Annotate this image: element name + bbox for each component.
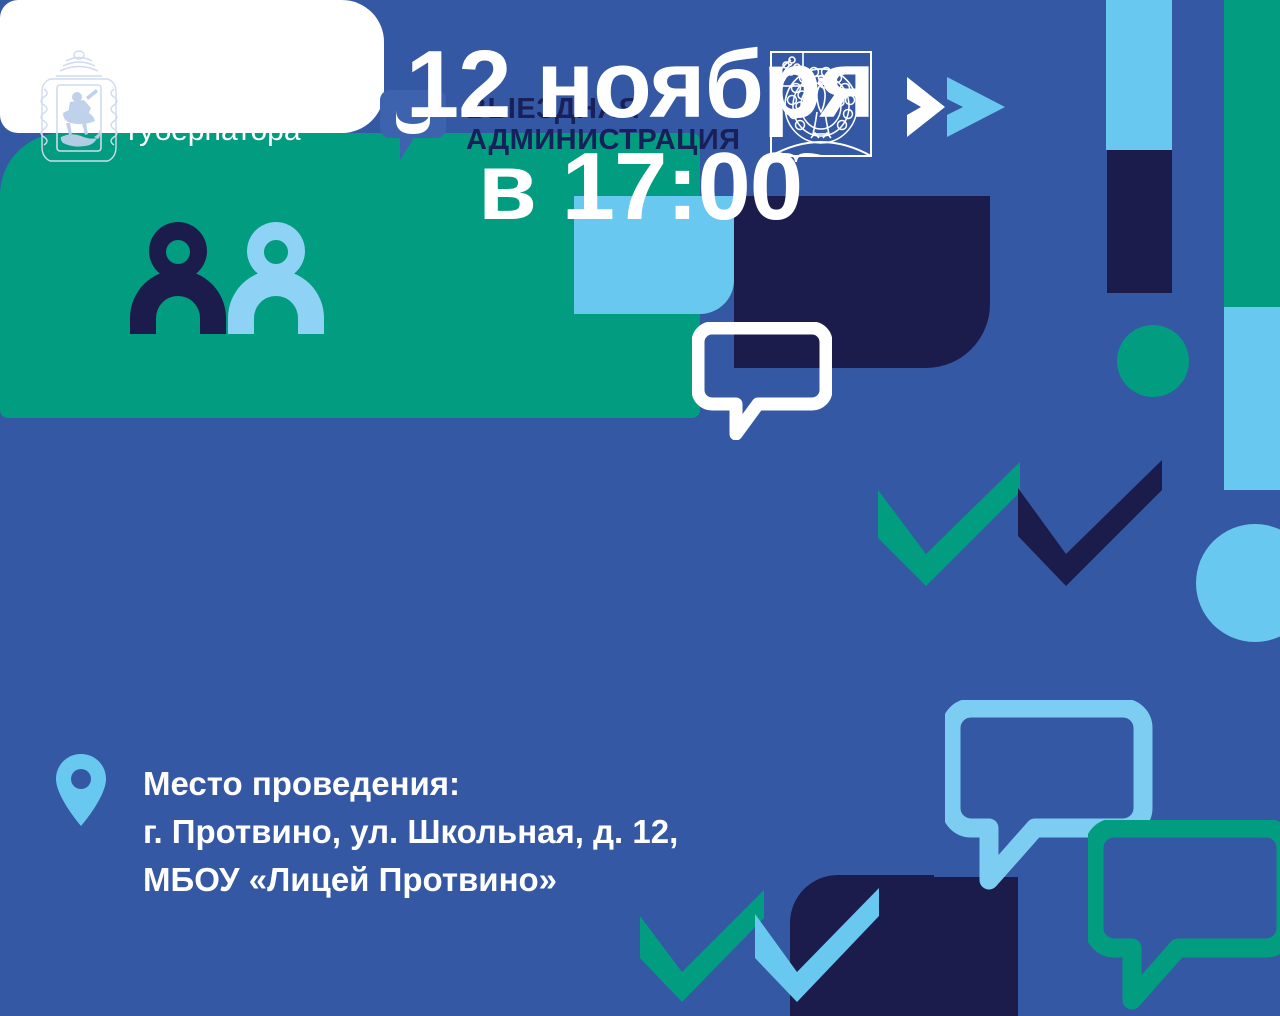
speech-bubble-white-outline-icon <box>692 322 832 440</box>
decor-circle-green <box>1117 325 1189 397</box>
venue-text-block: Место проведения: г. Протвино, ул. Школь… <box>143 760 923 904</box>
map-pin-icon <box>56 754 106 826</box>
two-people-icon <box>128 222 332 334</box>
check-chevron-navy-icon <box>1018 460 1162 586</box>
check-chevron-lightblue-bottom-icon <box>755 888 879 1002</box>
check-chevron-green-icon <box>878 462 1020 586</box>
venue-address-line-2: МБОУ «Лицей Протвино» <box>143 856 923 904</box>
date-line-2: в 17:00 <box>0 138 1280 236</box>
date-line-1: 12 ноября <box>0 36 1280 134</box>
decor-column-lightblue-right <box>1224 307 1280 490</box>
venue-title: Место проведения: <box>143 760 923 808</box>
date-text: 12 ноября в 17:00 <box>0 36 1280 236</box>
check-chevron-green-bottom-icon <box>640 890 764 1002</box>
speech-bubble-green-outline-icon <box>1088 820 1280 1016</box>
decor-circle-lightblue <box>1196 524 1280 642</box>
venue-address-line-1: г. Протвино, ул. Школьная, д. 12, <box>143 808 923 856</box>
poster-canvas: Команда губернатора ВЫЕЗДНАЯ АДМИНИСТРАЦ… <box>0 0 1280 1016</box>
decor-rect-navy-bottom-right <box>930 877 1018 1016</box>
